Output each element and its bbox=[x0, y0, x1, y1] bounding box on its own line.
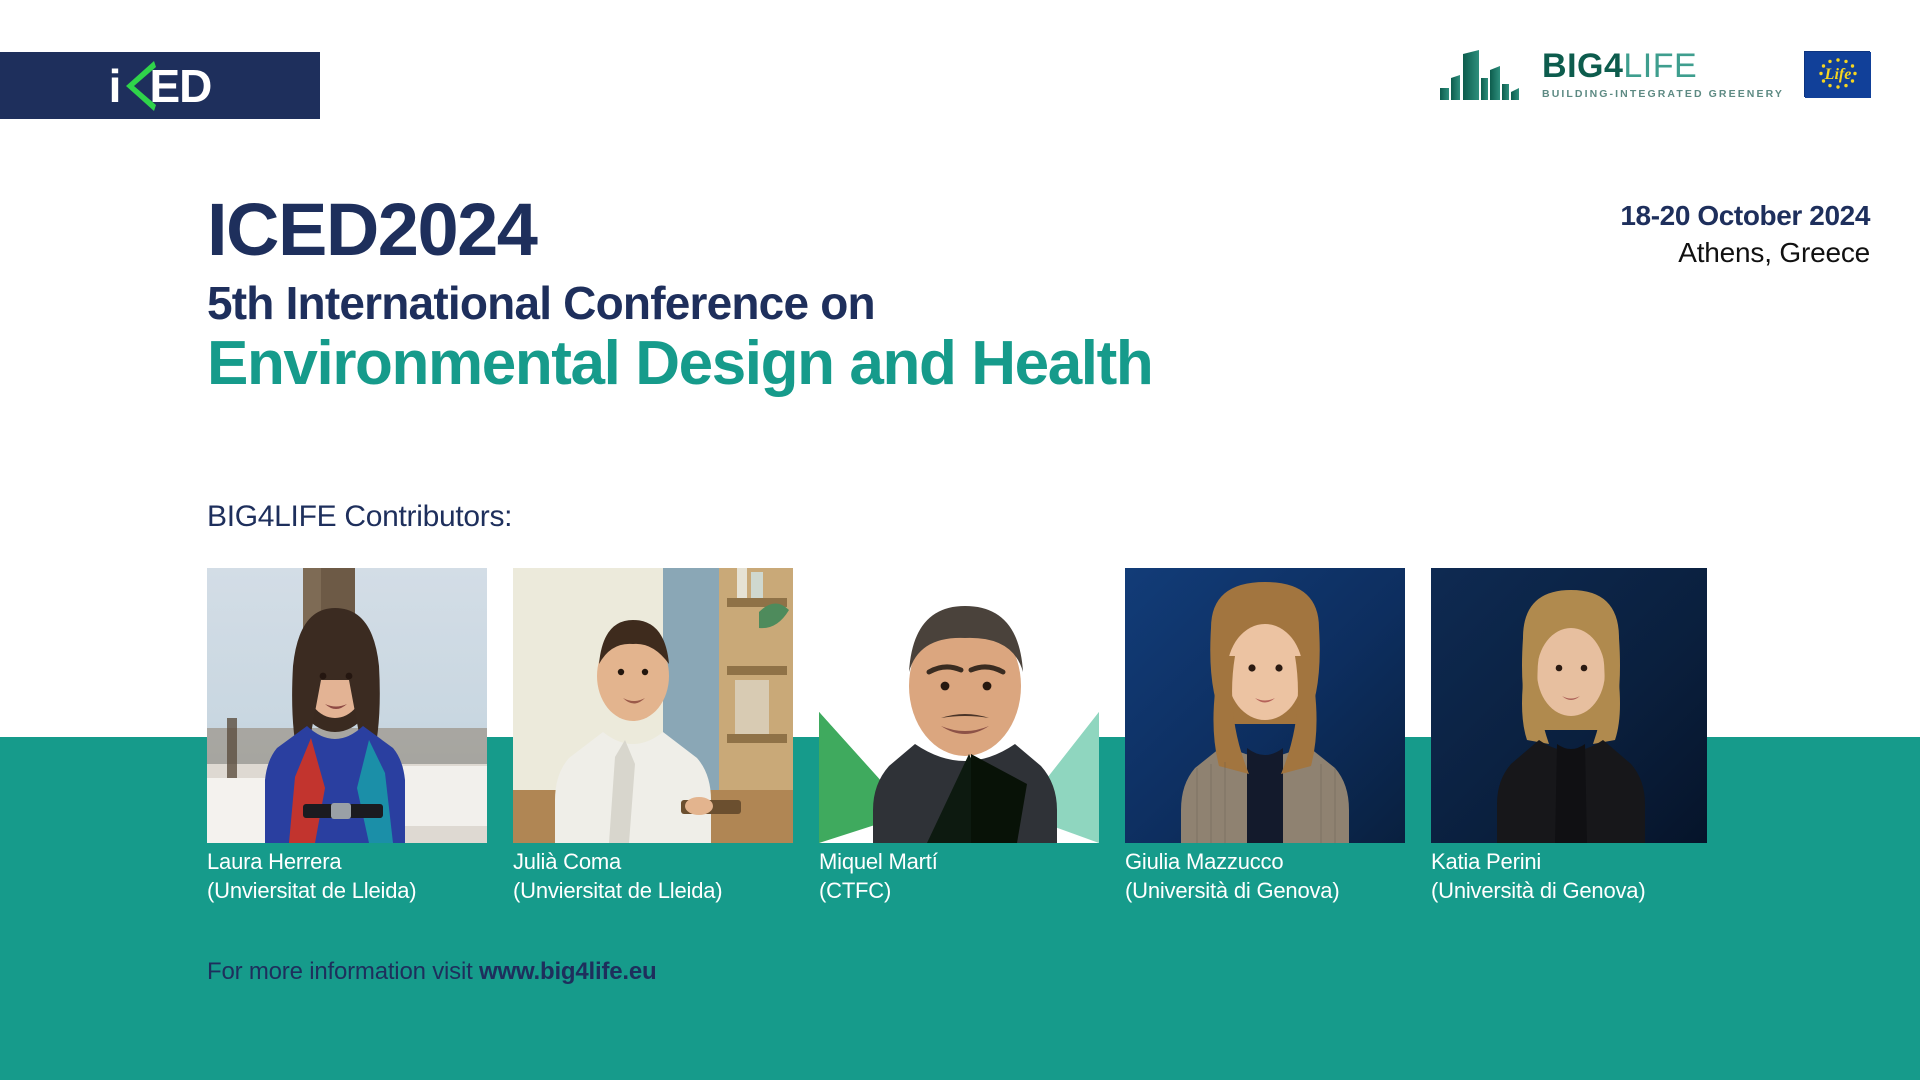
building-bars-icon bbox=[1438, 48, 1522, 100]
event-location: Athens, Greece bbox=[1620, 235, 1870, 271]
contributor-caption-5: Katia Perini (Università di Genova) bbox=[1431, 848, 1645, 905]
portrait-katia-perini bbox=[1431, 568, 1707, 843]
big4life-name-light: LIFE bbox=[1623, 49, 1697, 83]
portrait-giulia-mazzucco bbox=[1125, 568, 1405, 843]
contributor-photo-2 bbox=[513, 568, 793, 843]
iked-logo: i ED bbox=[0, 52, 320, 119]
contributor-name: Laura Herrera bbox=[207, 848, 416, 877]
contributor-photo-1 bbox=[207, 568, 487, 843]
subtitle-line-2: Environmental Design and Health bbox=[207, 331, 1467, 398]
contributor-caption-2: Julià Coma (Unviersitat de Lleida) bbox=[513, 848, 722, 905]
contributor-name: Giulia Mazzucco bbox=[1125, 848, 1339, 877]
contributor-photo-5 bbox=[1431, 568, 1707, 843]
contributor-caption-1: Laura Herrera (Unviersitat de Lleida) bbox=[207, 848, 416, 905]
contributor-affiliation: (CTFC) bbox=[819, 877, 938, 906]
eu-life-flag-icon: Life bbox=[1804, 51, 1870, 97]
big4life-tagline: BUILDING-INTEGRATED GREENERY bbox=[1542, 88, 1784, 100]
iked-logo-suffix: ED bbox=[149, 63, 211, 109]
contributor-caption-4: Giulia Mazzucco (Università di Genova) bbox=[1125, 848, 1339, 905]
footer-text: For more information visit bbox=[207, 958, 479, 985]
footer-info: For more information visit www.big4life.… bbox=[207, 958, 657, 986]
iked-logo-prefix: i bbox=[109, 63, 121, 109]
big4life-wordmark: BIG4LIFE BUILDING-INTEGRATED GREENERY bbox=[1542, 49, 1784, 100]
big4life-name-dark: BIG4 bbox=[1542, 49, 1623, 83]
svg-text:Life: Life bbox=[1824, 66, 1852, 83]
contributor-caption-3: Miquel Martí (CTFC) bbox=[819, 848, 938, 905]
chevron-left-green-icon bbox=[122, 61, 156, 111]
event-details: 18-20 October 2024 Athens, Greece bbox=[1620, 198, 1870, 271]
portrait-julia-coma bbox=[513, 568, 793, 843]
contributor-affiliation: (Unviersitat de Lleida) bbox=[513, 877, 722, 906]
contributor-names-row: Laura Herrera (Unviersitat de Lleida) Ju… bbox=[207, 848, 1767, 908]
contributor-affiliation: (Università di Genova) bbox=[1431, 877, 1645, 906]
contributor-name: Miquel Martí bbox=[819, 848, 938, 877]
portrait-miquel-marti bbox=[819, 568, 1099, 843]
contributor-affiliation: (Unviersitat de Lleida) bbox=[207, 877, 416, 906]
contributor-name: Julià Coma bbox=[513, 848, 722, 877]
portrait-laura-herrera bbox=[207, 568, 487, 843]
headline-block: ICED2024 5th International Conference on… bbox=[207, 192, 1467, 398]
big4life-website-link[interactable]: www.big4life.eu bbox=[479, 958, 656, 985]
contributor-name: Katia Perini bbox=[1431, 848, 1645, 877]
contributor-photo-4 bbox=[1125, 568, 1405, 843]
contributor-affiliation: (Università di Genova) bbox=[1125, 877, 1339, 906]
page-title: ICED2024 bbox=[207, 192, 1467, 267]
conference-announcement-poster: i ED bbox=[0, 0, 1920, 1080]
event-dates: 18-20 October 2024 bbox=[1620, 198, 1870, 233]
partner-logos: BIG4LIFE BUILDING-INTEGRATED GREENERY bbox=[1438, 48, 1870, 100]
contributor-photo-3 bbox=[819, 568, 1099, 843]
contributor-photo-row bbox=[207, 568, 1707, 843]
contributors-heading: BIG4LIFE Contributors: bbox=[207, 500, 512, 534]
subtitle-line-1: 5th International Conference on bbox=[207, 279, 1467, 329]
